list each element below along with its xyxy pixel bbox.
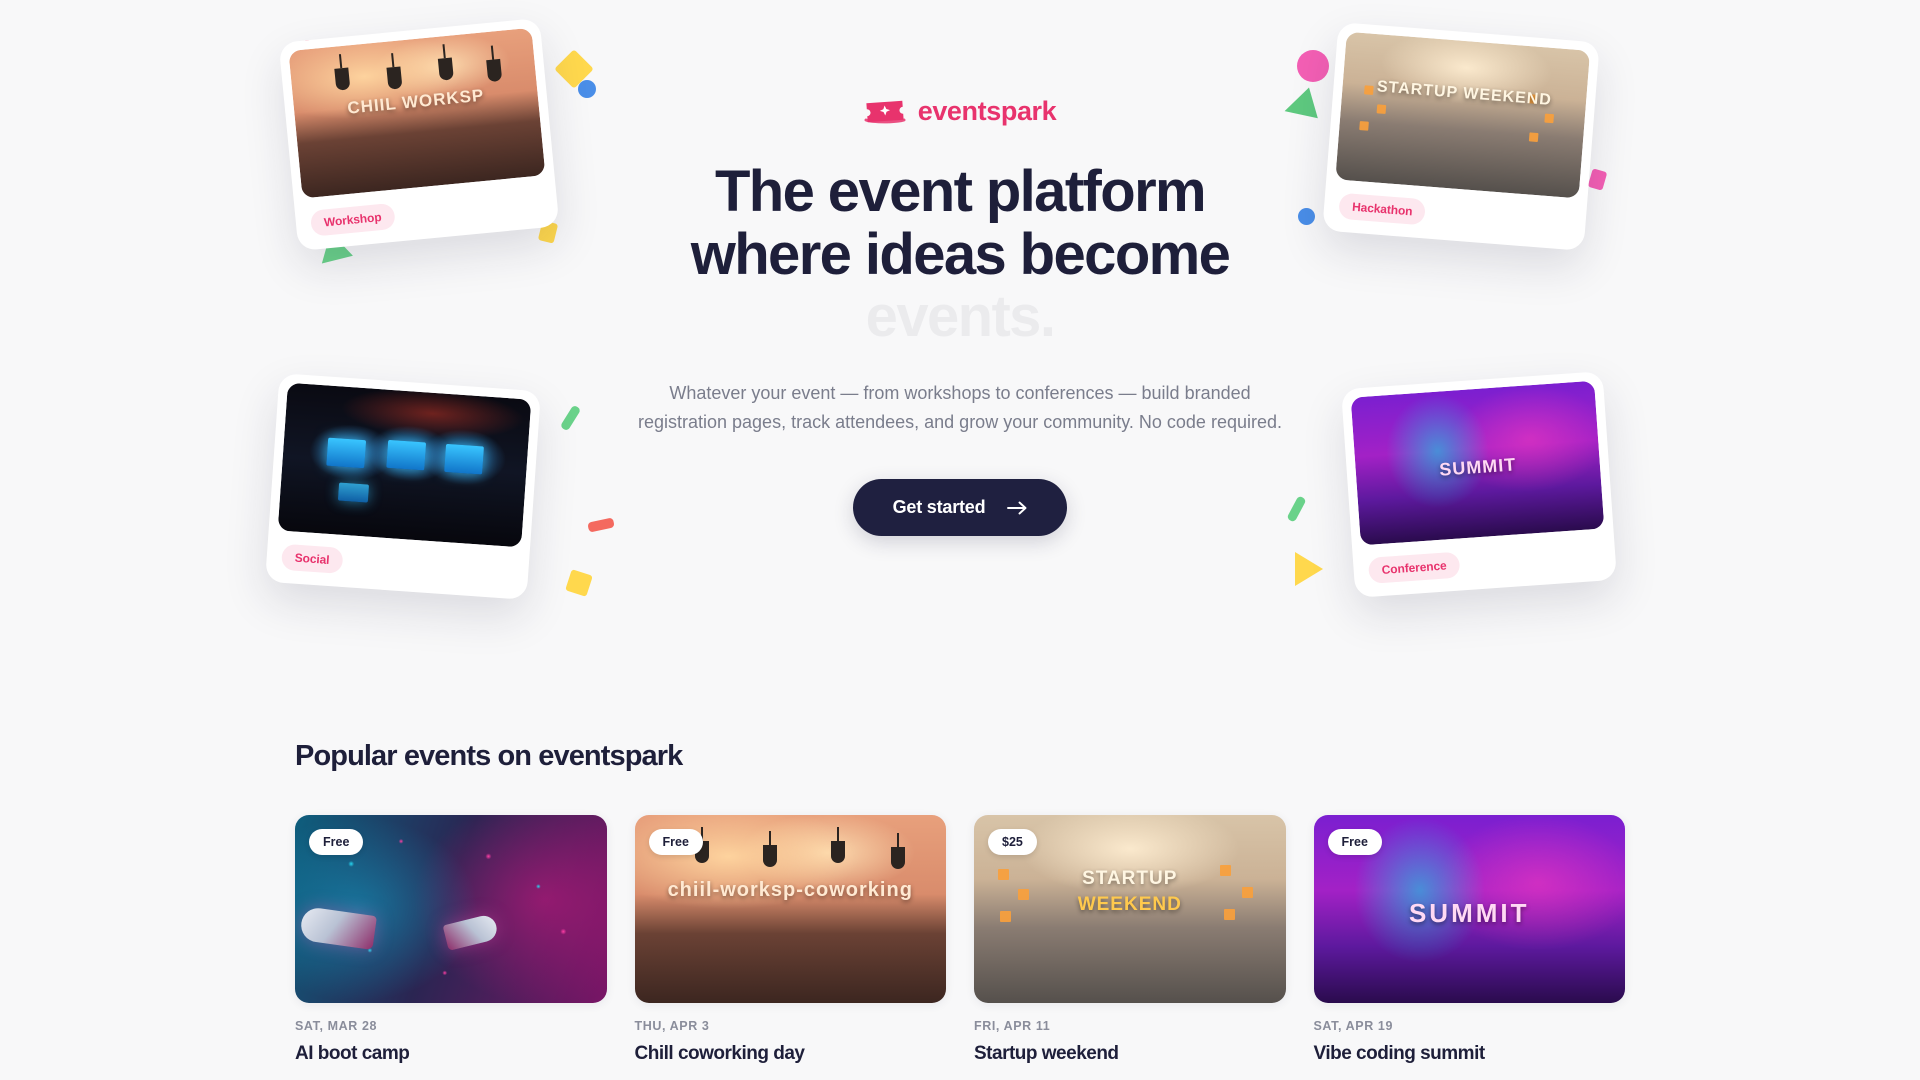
green-dash-left-icon [560,405,581,432]
event-card[interactable]: Free chiil-worksp-coworking THU, APR 3 C… [635,815,947,1067]
brand-name: eventspark [918,96,1057,127]
price-badge: Free [309,829,363,855]
floating-card-tag: Hackathon [1338,193,1426,226]
summit-photo-text: SUMMIT [1314,898,1626,929]
cta-container: Get started [610,479,1310,536]
floating-card-tag: Workshop [310,203,396,237]
startup-weekend-text: STARTUP [974,868,1286,890]
brand-logo: eventspark [610,96,1310,127]
get-started-label: Get started [893,497,986,518]
popular-events-inner: Popular events on eventspark Free SAT, M… [295,740,1625,1067]
event-thumbnail: Free SUMMIT [1314,815,1626,1003]
popular-events-section: Popular events on eventspark Free SAT, M… [0,740,1920,1067]
event-title: Chill coworking day [635,1042,947,1067]
event-date: THU, APR 3 [635,1019,947,1033]
section-title: Popular events on eventspark [295,740,1625,773]
pink-square-right-icon [1588,168,1608,190]
ticket-icon [864,98,906,125]
event-date: SAT, MAR 28 [295,1019,607,1033]
yellow-triangle-icon [1295,552,1323,586]
workshop-photo-text: CHIIL WORKSP [294,81,539,124]
event-title: AI boot camp [295,1042,607,1067]
price-badge: $25 [988,829,1037,855]
headline-line-3: events. [610,286,1310,349]
workshop-photo: CHIIL WORKSP [288,28,545,199]
conference-photo-text: SUMMIT [1355,449,1600,487]
price-badge: Free [1328,829,1382,855]
event-card[interactable]: Free SUMMIT SAT, APR 19 Vibe coding summ… [1314,815,1626,1067]
floating-card-tag: Social [281,544,343,574]
hackathon-photo: STARTUP WEEKEND [1335,32,1590,199]
landing-page: CHIIL WORKSP Workshop STARTUP WEEKEND [0,0,1920,1080]
floating-card-workshop[interactable]: CHIIL WORKSP Workshop [279,18,560,251]
hero-subtitle: Whatever your event — from workshops to … [610,379,1310,437]
pink-circle-right-icon [1297,50,1329,82]
hero-section: CHIIL WORKSP Workshop STARTUP WEEKEND [0,0,1920,740]
yellow-square-low-icon [565,569,593,597]
floating-card-tag: Conference [1368,552,1461,584]
price-badge: Free [649,829,703,855]
event-date: FRI, APR 11 [974,1019,1286,1033]
social-photo [278,383,532,548]
headline-line-2: where ideas become [610,224,1310,287]
hero-content: eventspark The event platform where idea… [610,96,1310,536]
page-title: The event platform where ideas become ev… [610,161,1310,349]
event-card[interactable]: Free SAT, MAR 28 AI boot camp [295,815,607,1067]
event-card[interactable]: $25 STARTUP WEEKEND FRI, APR 11 [974,815,1286,1067]
get-started-button[interactable]: Get started [853,479,1068,536]
floating-card-conference[interactable]: SUMMIT Conference [1341,371,1617,598]
floating-card-thumb: SUMMIT [1351,381,1605,546]
conference-photo: SUMMIT [1351,381,1605,546]
event-title: Vibe coding summit [1314,1042,1626,1067]
event-thumbnail: Free chiil-worksp-coworking [635,815,947,1003]
floating-card-hackathon[interactable]: STARTUP WEEKEND Hackathon [1322,22,1600,251]
headline-line-1: The event platform [610,161,1310,224]
floating-card-thumb: STARTUP WEEKEND [1335,32,1590,199]
event-title: Startup weekend [974,1042,1286,1067]
events-grid: Free SAT, MAR 28 AI boot camp Free [295,815,1625,1067]
coworking-photo-text: chiil-worksp-coworking [635,879,947,902]
event-thumbnail: $25 STARTUP WEEKEND [974,815,1286,1003]
floating-card-thumb [278,383,532,548]
arrow-right-icon [1007,501,1027,515]
floating-card-thumb: CHIIL WORKSP [288,28,545,199]
floating-card-social[interactable]: Social [265,373,541,600]
event-thumbnail: Free [295,815,607,1003]
blue-circle-top-icon [578,80,596,98]
event-date: SAT, APR 19 [1314,1019,1626,1033]
